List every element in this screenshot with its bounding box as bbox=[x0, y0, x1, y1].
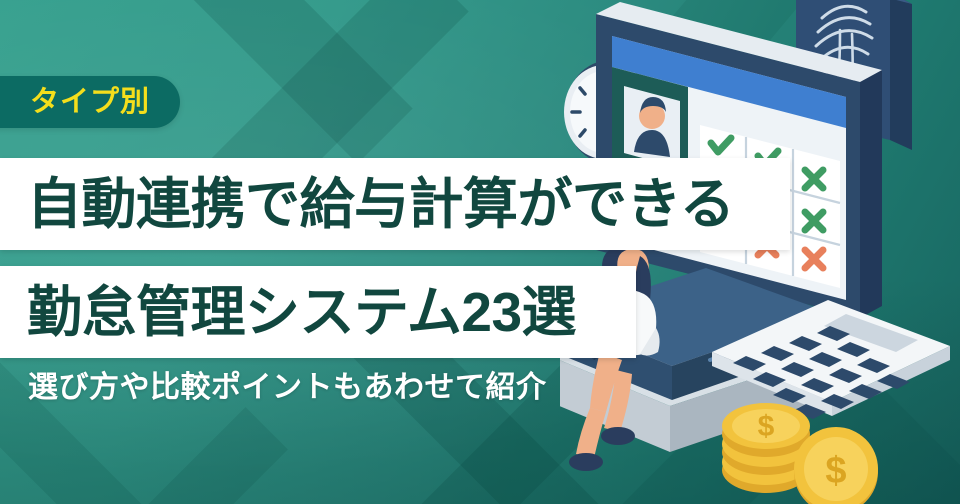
subtitle: 選び方や比較ポイントもあわせて紹介 bbox=[28, 373, 547, 403]
category-badge-label: タイプ別 bbox=[30, 88, 150, 117]
title-line2: 勤怠管理システム23選 bbox=[0, 285, 576, 340]
svg-text:$: $ bbox=[758, 410, 775, 443]
title-line1: 自動連携で給与計算ができる bbox=[0, 177, 734, 232]
illustration: $ $ bbox=[560, 0, 960, 504]
article-thumbnail-banner: $ $ タイプ別 自動連携で給与計算ができる 勤怠管理システム23選 選び方や比… bbox=[0, 0, 960, 504]
category-badge: タイプ別 bbox=[0, 76, 180, 128]
title-panel-line1: 自動連携で給与計算ができる bbox=[0, 158, 790, 250]
svg-text:$: $ bbox=[825, 450, 846, 492]
coin-stack-icon: $ $ bbox=[722, 403, 878, 504]
title-panel-line2: 勤怠管理システム23選 bbox=[0, 266, 636, 358]
